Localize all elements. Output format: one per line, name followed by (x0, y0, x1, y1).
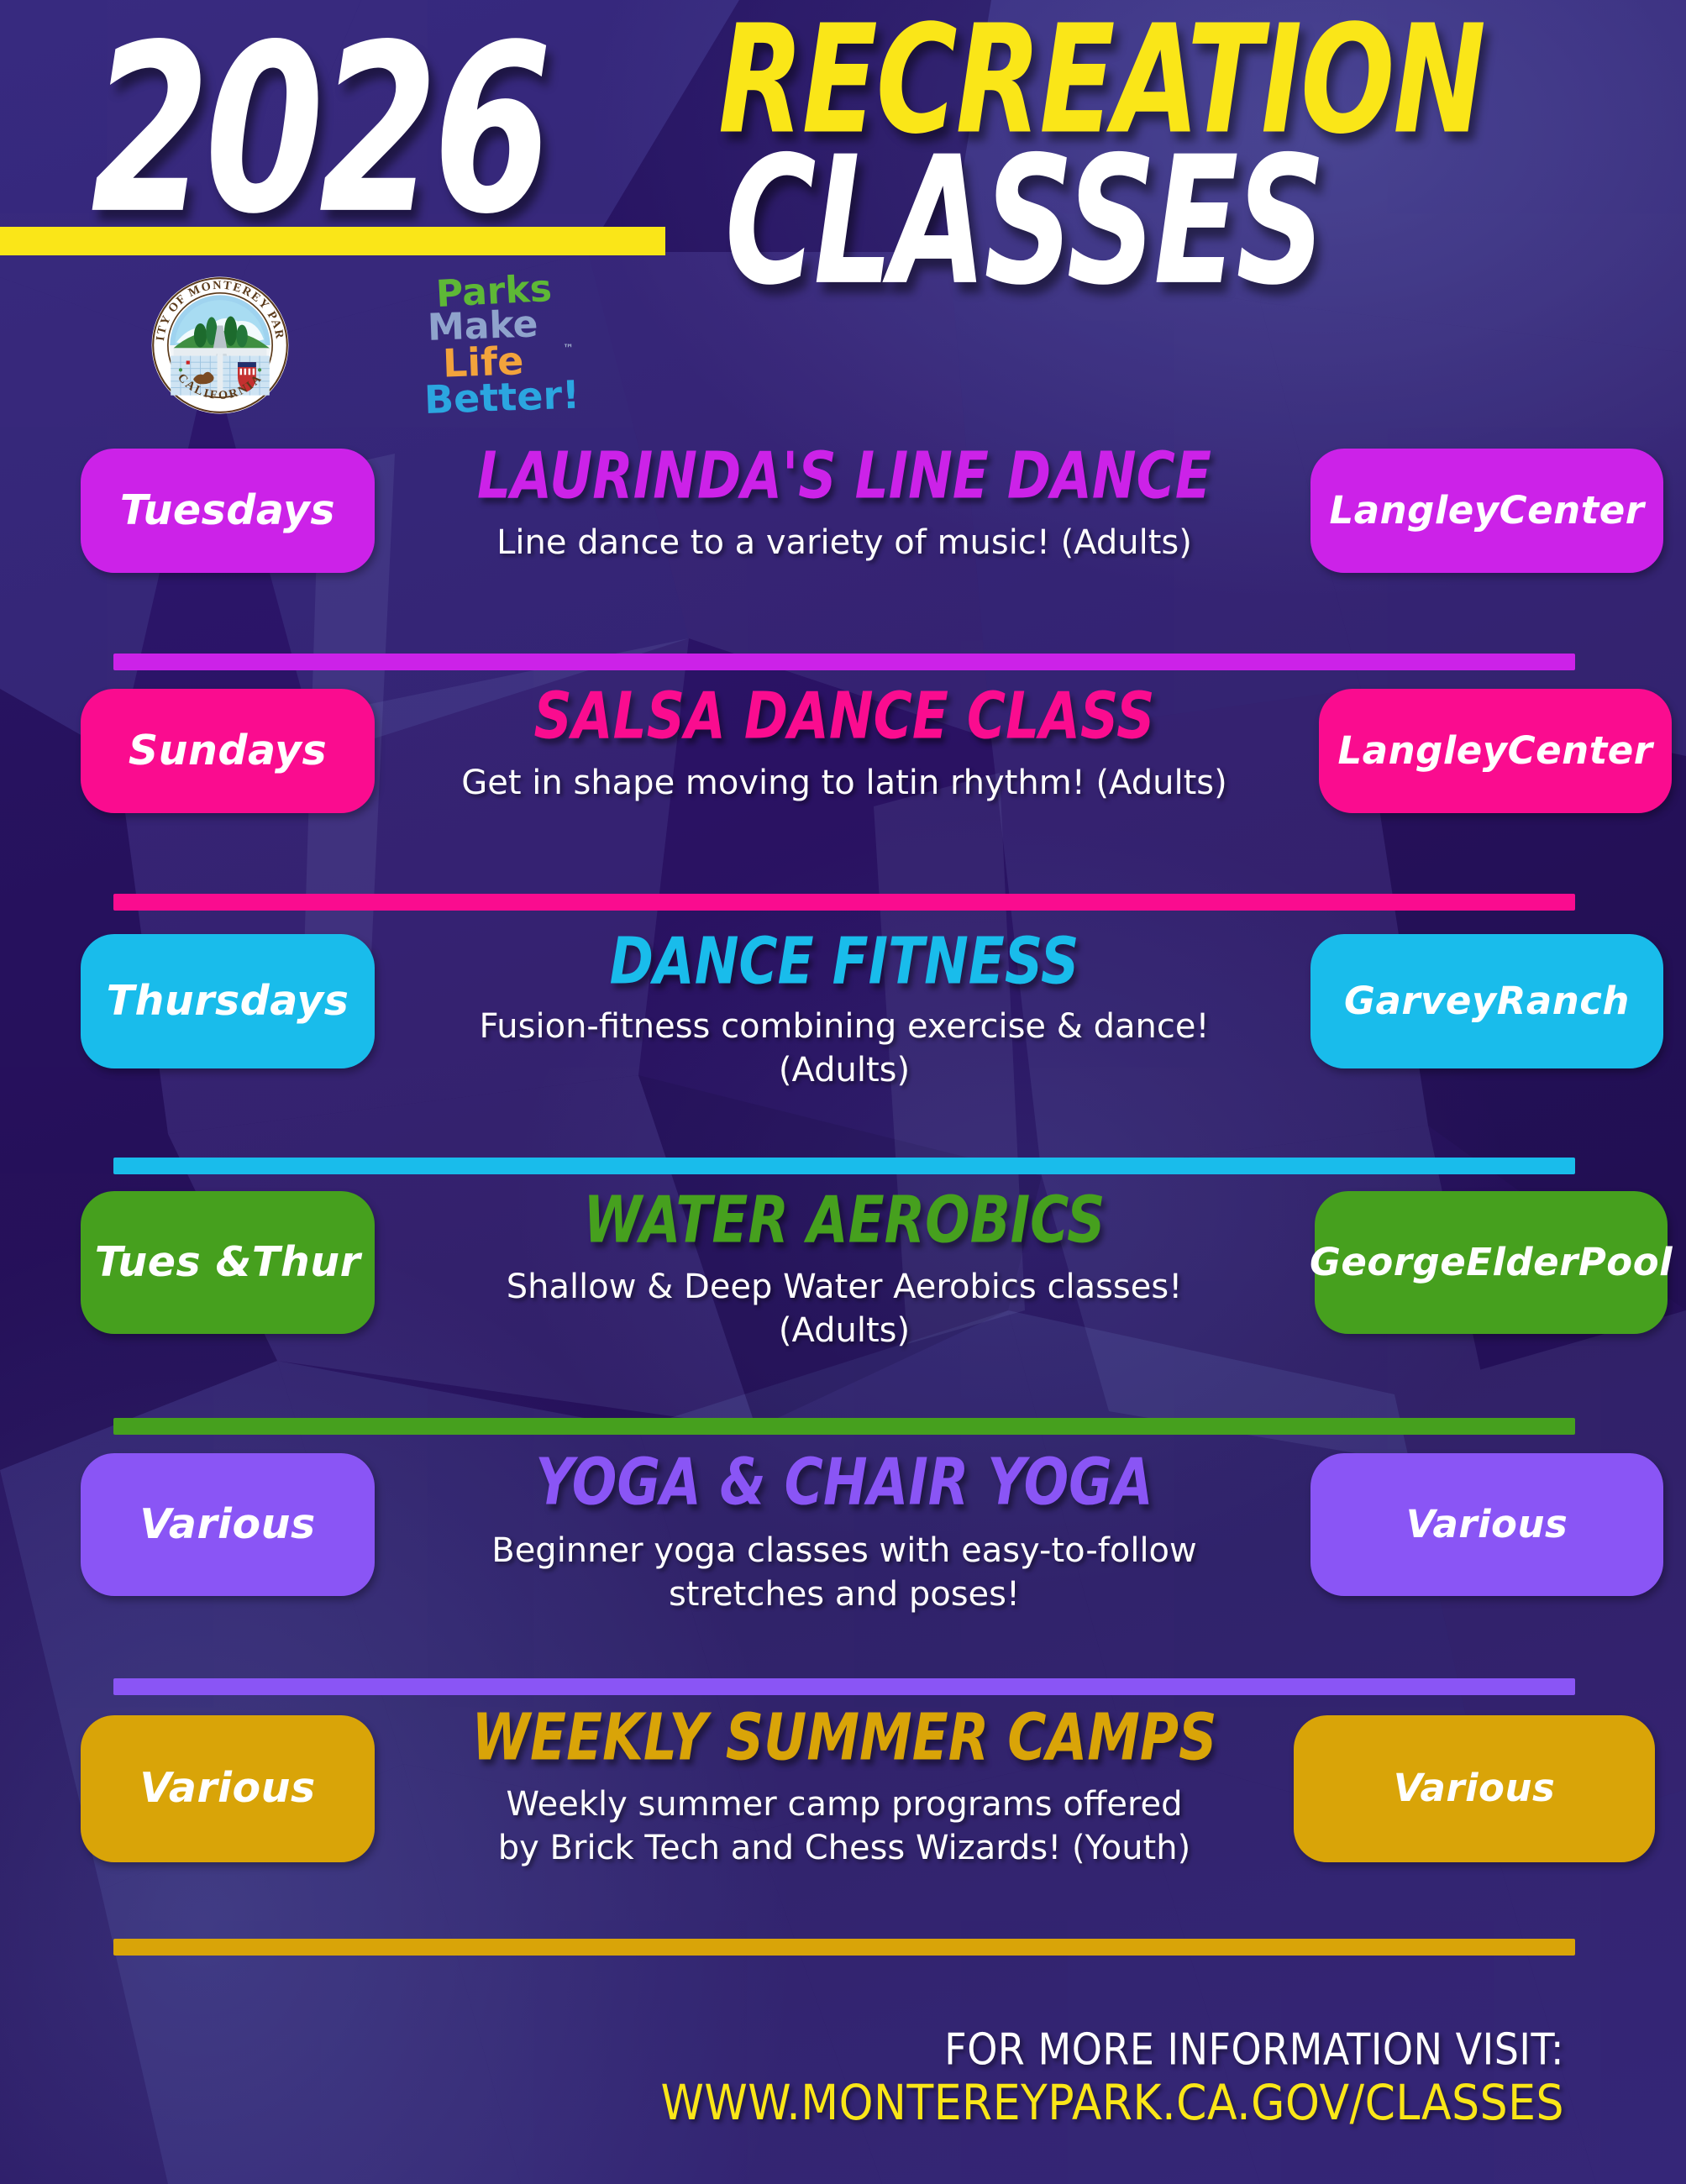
class-location-label: Ranch (1497, 982, 1630, 1021)
class-row: ThursdaysDANCE FITNESSFusion-fitness com… (0, 924, 1686, 1184)
class-title: SALSA DANCE CLASS (382, 684, 1306, 749)
poster-footer: FOR MORE INFORMATION VISIT: WWW.MONTEREY… (0, 2020, 1686, 2128)
class-divider-bar (113, 1158, 1575, 1174)
parks-make-life-better-logo: Parks Make Life Better! ™ (424, 274, 567, 375)
city-seal-logo: CITY OF MONTEREY PARK CALIFORNIA (150, 275, 291, 416)
poster-canvas: 2026 (0, 0, 1686, 2184)
class-description: Weekly summer camp programs offeredby Br… (365, 1782, 1323, 1870)
class-info: SALSA DANCE CLASSGet in shape moving to … (382, 684, 1306, 805)
class-description: Line dance to a variety of music! (Adult… (382, 521, 1306, 564)
class-description: Get in shape moving to latin rhythm! (Ad… (382, 761, 1306, 805)
class-row: SundaysSALSA DANCE CLASSGet in shape mov… (0, 680, 1686, 924)
page-title-block: RECREATION CLASSES (718, 10, 1676, 114)
class-location-pill: LangleyCenter (1319, 689, 1672, 813)
class-info: WEEKLY SUMMER CAMPSWeekly summer camp pr… (365, 1705, 1323, 1870)
class-day-label: Various (139, 1767, 315, 1810)
class-day-label: Tues & (95, 1242, 252, 1284)
class-row: TuesdaysLAURINDA'S LINE DANCELine dance … (0, 437, 1686, 680)
class-day-label: Various (139, 1504, 315, 1546)
class-day-pill: Sundays (81, 689, 375, 813)
class-row: VariousWEEKLY SUMMER CAMPSWeekly summer … (0, 1705, 1686, 1966)
class-title: WATER AEROBICS (399, 1188, 1289, 1253)
class-day-pill: Tues &Thur (81, 1191, 375, 1334)
class-info: WATER AEROBICSShallow & Deep Water Aerob… (399, 1188, 1289, 1352)
class-description: Beginner yoga classes with easy-to-follo… (374, 1529, 1315, 1616)
class-row: VariousYOGA & CHAIR YOGABeginner yoga cl… (0, 1445, 1686, 1705)
tagline-trademark: ™ (563, 344, 574, 354)
class-day-label: Thursdays (107, 980, 349, 1023)
class-location-label: Langley (1330, 491, 1500, 531)
class-location-label: Various (1406, 1505, 1568, 1545)
class-title: LAURINDA'S LINE DANCE (382, 444, 1306, 509)
class-title: YOGA & CHAIR YOGA (374, 1450, 1315, 1515)
page-title-year: 2026 (91, 15, 547, 247)
class-location-label: George (1310, 1243, 1466, 1283)
class-day-pill: Various (81, 1715, 375, 1862)
class-info: YOGA & CHAIR YOGABeginner yoga classes w… (374, 1450, 1315, 1616)
class-day-label: Sundays (129, 730, 327, 773)
footer-website-url[interactable]: WWW.MONTEREYPARK.CA.GOV/CLASSES (0, 2072, 1564, 2134)
class-location-label: Pool (1578, 1243, 1673, 1283)
year-underline-bar (0, 227, 665, 255)
class-description: Shallow & Deep Water Aerobics classes!(A… (399, 1265, 1289, 1352)
class-description: Fusion-fitness combining exercise & danc… (403, 1005, 1285, 1092)
class-row: Tues &ThurWATER AEROBICSShallow & Deep W… (0, 1184, 1686, 1445)
poster-header: 2026 (0, 0, 1686, 420)
page-title-classes: CLASSES (725, 138, 1323, 305)
class-title: DANCE FITNESS (403, 929, 1285, 995)
class-location-pill: Various (1294, 1715, 1655, 1862)
class-location-label: Center (1508, 732, 1653, 771)
class-title: WEEKLY SUMMER CAMPS (365, 1705, 1323, 1771)
class-info: DANCE FITNESSFusion-fitness combining ex… (403, 929, 1285, 1092)
class-location-pill: GarveyRanch (1310, 934, 1663, 1068)
class-day-pill: Thursdays (81, 934, 375, 1068)
class-location-label: Center (1500, 491, 1645, 531)
class-info: LAURINDA'S LINE DANCELine dance to a var… (382, 444, 1306, 564)
class-divider-bar (113, 1939, 1575, 1956)
class-day-pill: Tuesdays (81, 449, 375, 573)
class-day-label: Tuesdays (120, 490, 335, 533)
class-location-label: Garvey (1344, 982, 1497, 1021)
class-location-pill: GeorgeElderPool (1315, 1191, 1668, 1334)
class-location-label: Various (1394, 1769, 1556, 1809)
class-location-label: Langley (1338, 732, 1508, 771)
tagline-word-better: Better! (423, 377, 567, 418)
class-location-pill: LangleyCenter (1310, 449, 1663, 573)
class-location-label: Elder (1466, 1243, 1578, 1283)
class-divider-bar (113, 894, 1575, 911)
class-divider-bar (113, 1418, 1575, 1435)
class-day-label: Thur (252, 1242, 360, 1284)
footer-info-label: FOR MORE INFORMATION VISIT: (0, 2020, 1564, 2078)
class-location-pill: Various (1310, 1453, 1663, 1596)
class-divider-bar (113, 654, 1575, 670)
class-divider-bar (113, 1678, 1575, 1695)
class-day-pill: Various (81, 1453, 375, 1596)
